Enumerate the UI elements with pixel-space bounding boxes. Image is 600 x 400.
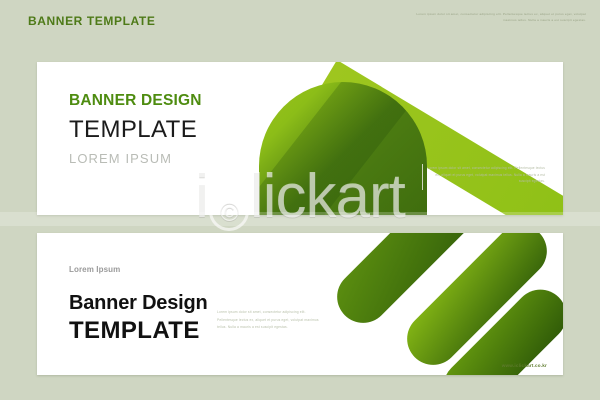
banner-two-body-text: Lorem ipsum dolor sit amet, consectetur … bbox=[217, 309, 325, 332]
banner-one-title: TEMPLATE bbox=[69, 116, 202, 144]
banner-one[interactable]: BANNER DESIGN TEMPLATE LOREM IPSUM Lorem… bbox=[37, 62, 563, 215]
banner-two-title: Banner Design bbox=[69, 292, 208, 315]
banner-one-kicker: BANNER DESIGN bbox=[69, 92, 202, 110]
banner-one-copy: BANNER DESIGN TEMPLATE LOREM IPSUM bbox=[69, 92, 202, 166]
banner-two-copy: Lorem Ipsum Banner Design TEMPLATE bbox=[69, 265, 208, 345]
header-note-text: Lorem ipsum dolor sit amet, consectetur … bbox=[406, 12, 586, 23]
banner-one-divider bbox=[422, 164, 423, 190]
watermark-url: www.iclickart.co.kr bbox=[502, 363, 547, 368]
banner-two[interactable]: Lorem Ipsum Banner Design TEMPLATE Lorem… bbox=[37, 233, 563, 375]
banner-two-kicker: Lorem Ipsum bbox=[69, 265, 208, 274]
banner-one-note-text: Lorem ipsum dolor sit amet, consectetur … bbox=[425, 165, 545, 185]
banner-one-subtitle: LOREM IPSUM bbox=[69, 151, 202, 166]
banner-two-title-secondary: TEMPLATE bbox=[69, 317, 208, 345]
page-title: BANNER TEMPLATE bbox=[28, 14, 155, 28]
